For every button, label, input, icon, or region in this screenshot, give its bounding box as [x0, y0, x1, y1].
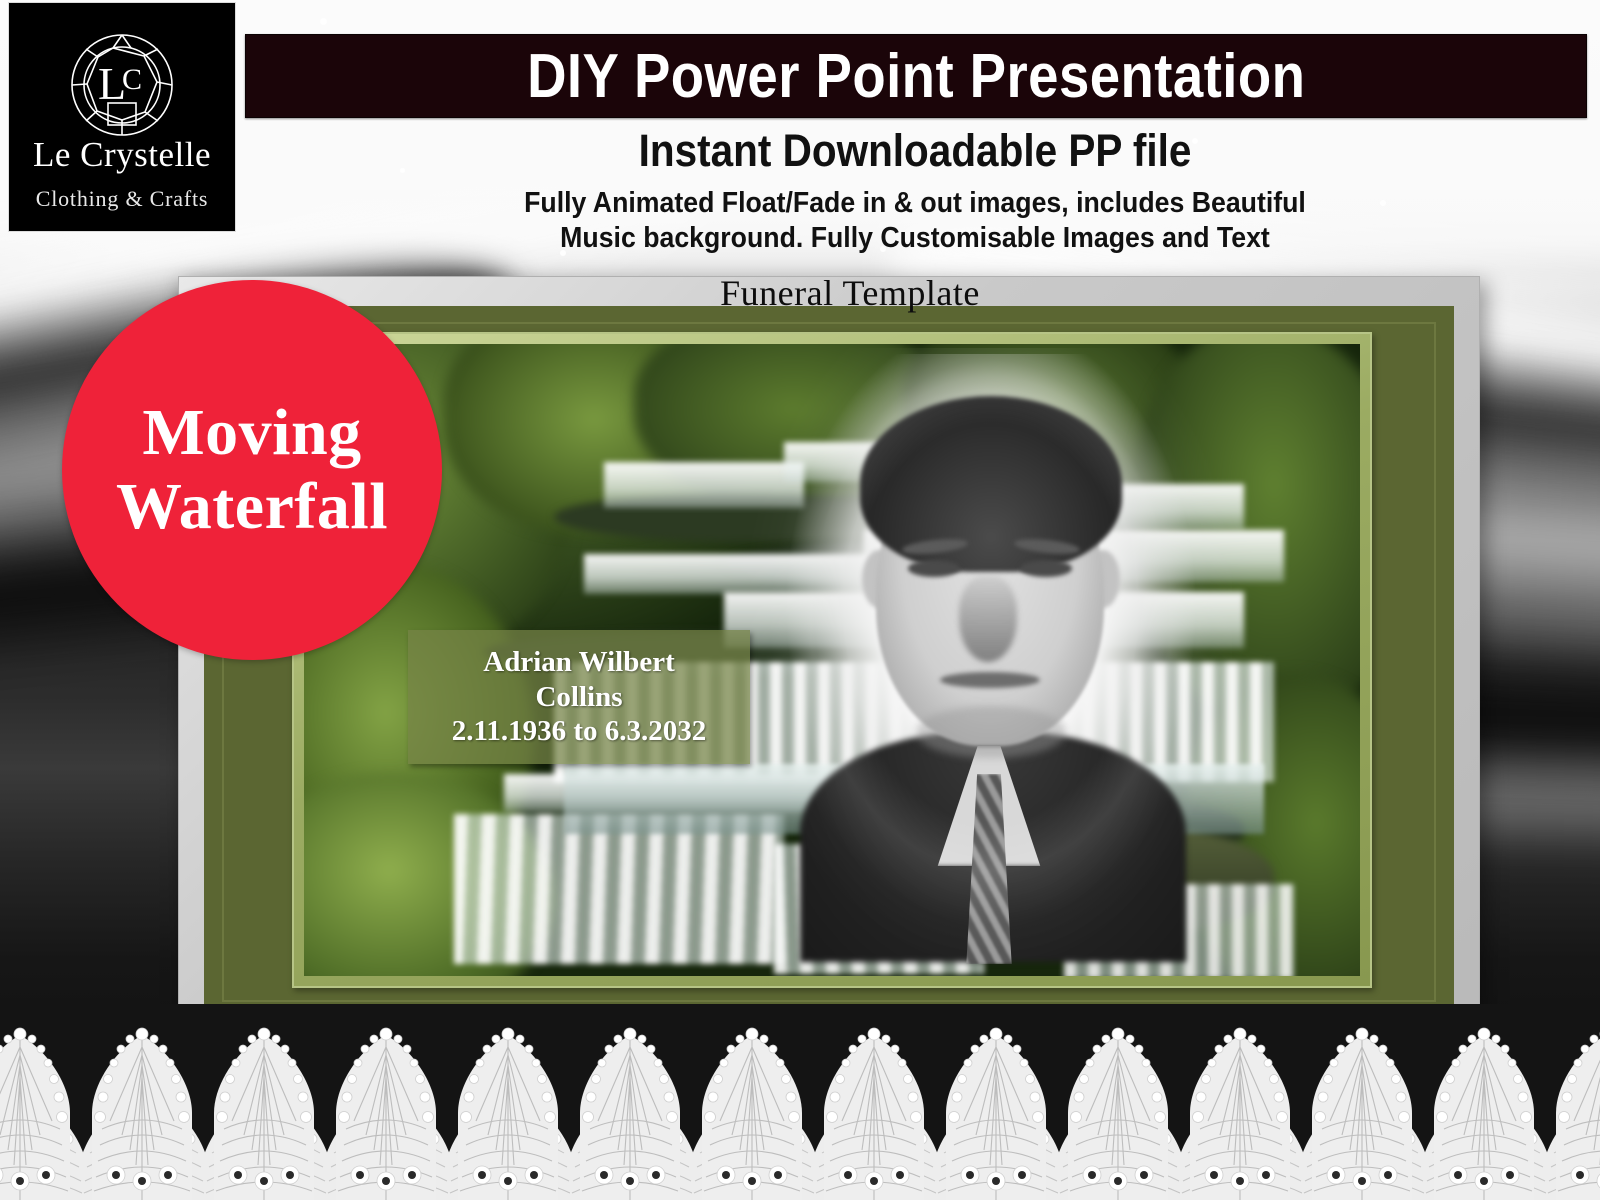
portrait-hair [860, 396, 1122, 572]
nameplate-name-line-2: Collins [535, 682, 622, 712]
nameplate: Adrian Wilbert Collins 2.11.1936 to 6.3.… [408, 630, 750, 764]
gemstone-icon: L C [64, 27, 180, 148]
badge-line-1: Moving [142, 396, 361, 470]
portrait-nose [959, 576, 1017, 662]
portrait-eye [908, 560, 960, 577]
nameplate-dates: 2.11.1936 to 6.3.2032 [452, 716, 707, 746]
portrait-eye [1020, 560, 1072, 577]
nameplate-name-line-1: Adrian Wilbert [483, 647, 674, 677]
portrait-chin [916, 706, 1066, 758]
title-banner: DIY Power Point Presentation [245, 34, 1587, 118]
brand-name: Le Crystelle [9, 135, 235, 175]
brand-tagline: Clothing & Crafts [9, 186, 235, 212]
portrait-mouth [940, 672, 1040, 688]
feature-line-1: Fully Animated Float/Fade in & out image… [299, 186, 1532, 221]
feature-text: Fully Animated Float/Fade in & out image… [299, 186, 1532, 257]
lace-trim-icon [0, 1025, 1600, 1200]
moving-waterfall-badge: Moving Waterfall [62, 280, 442, 660]
page-title: DIY Power Point Presentation [527, 41, 1305, 112]
subtitle: Instant Downloadable PP file [312, 125, 1518, 177]
portrait-photo [756, 354, 1226, 954]
badge-line-2: Waterfall [116, 470, 388, 544]
slide-caption: Funeral Template [600, 272, 1100, 314]
water-cascade [454, 814, 784, 964]
svg-text:C: C [122, 63, 142, 96]
feature-line-2: Music background. Fully Customisable Ima… [299, 221, 1532, 256]
waterfall-photo: Adrian Wilbert Collins 2.11.1936 to 6.3.… [304, 344, 1360, 976]
sparkle-dot [320, 18, 327, 25]
product-listing-image: L C Le Crystelle Clothing & Crafts DIY P… [0, 0, 1600, 1200]
brand-logo: L C Le Crystelle Clothing & Crafts [8, 2, 236, 232]
